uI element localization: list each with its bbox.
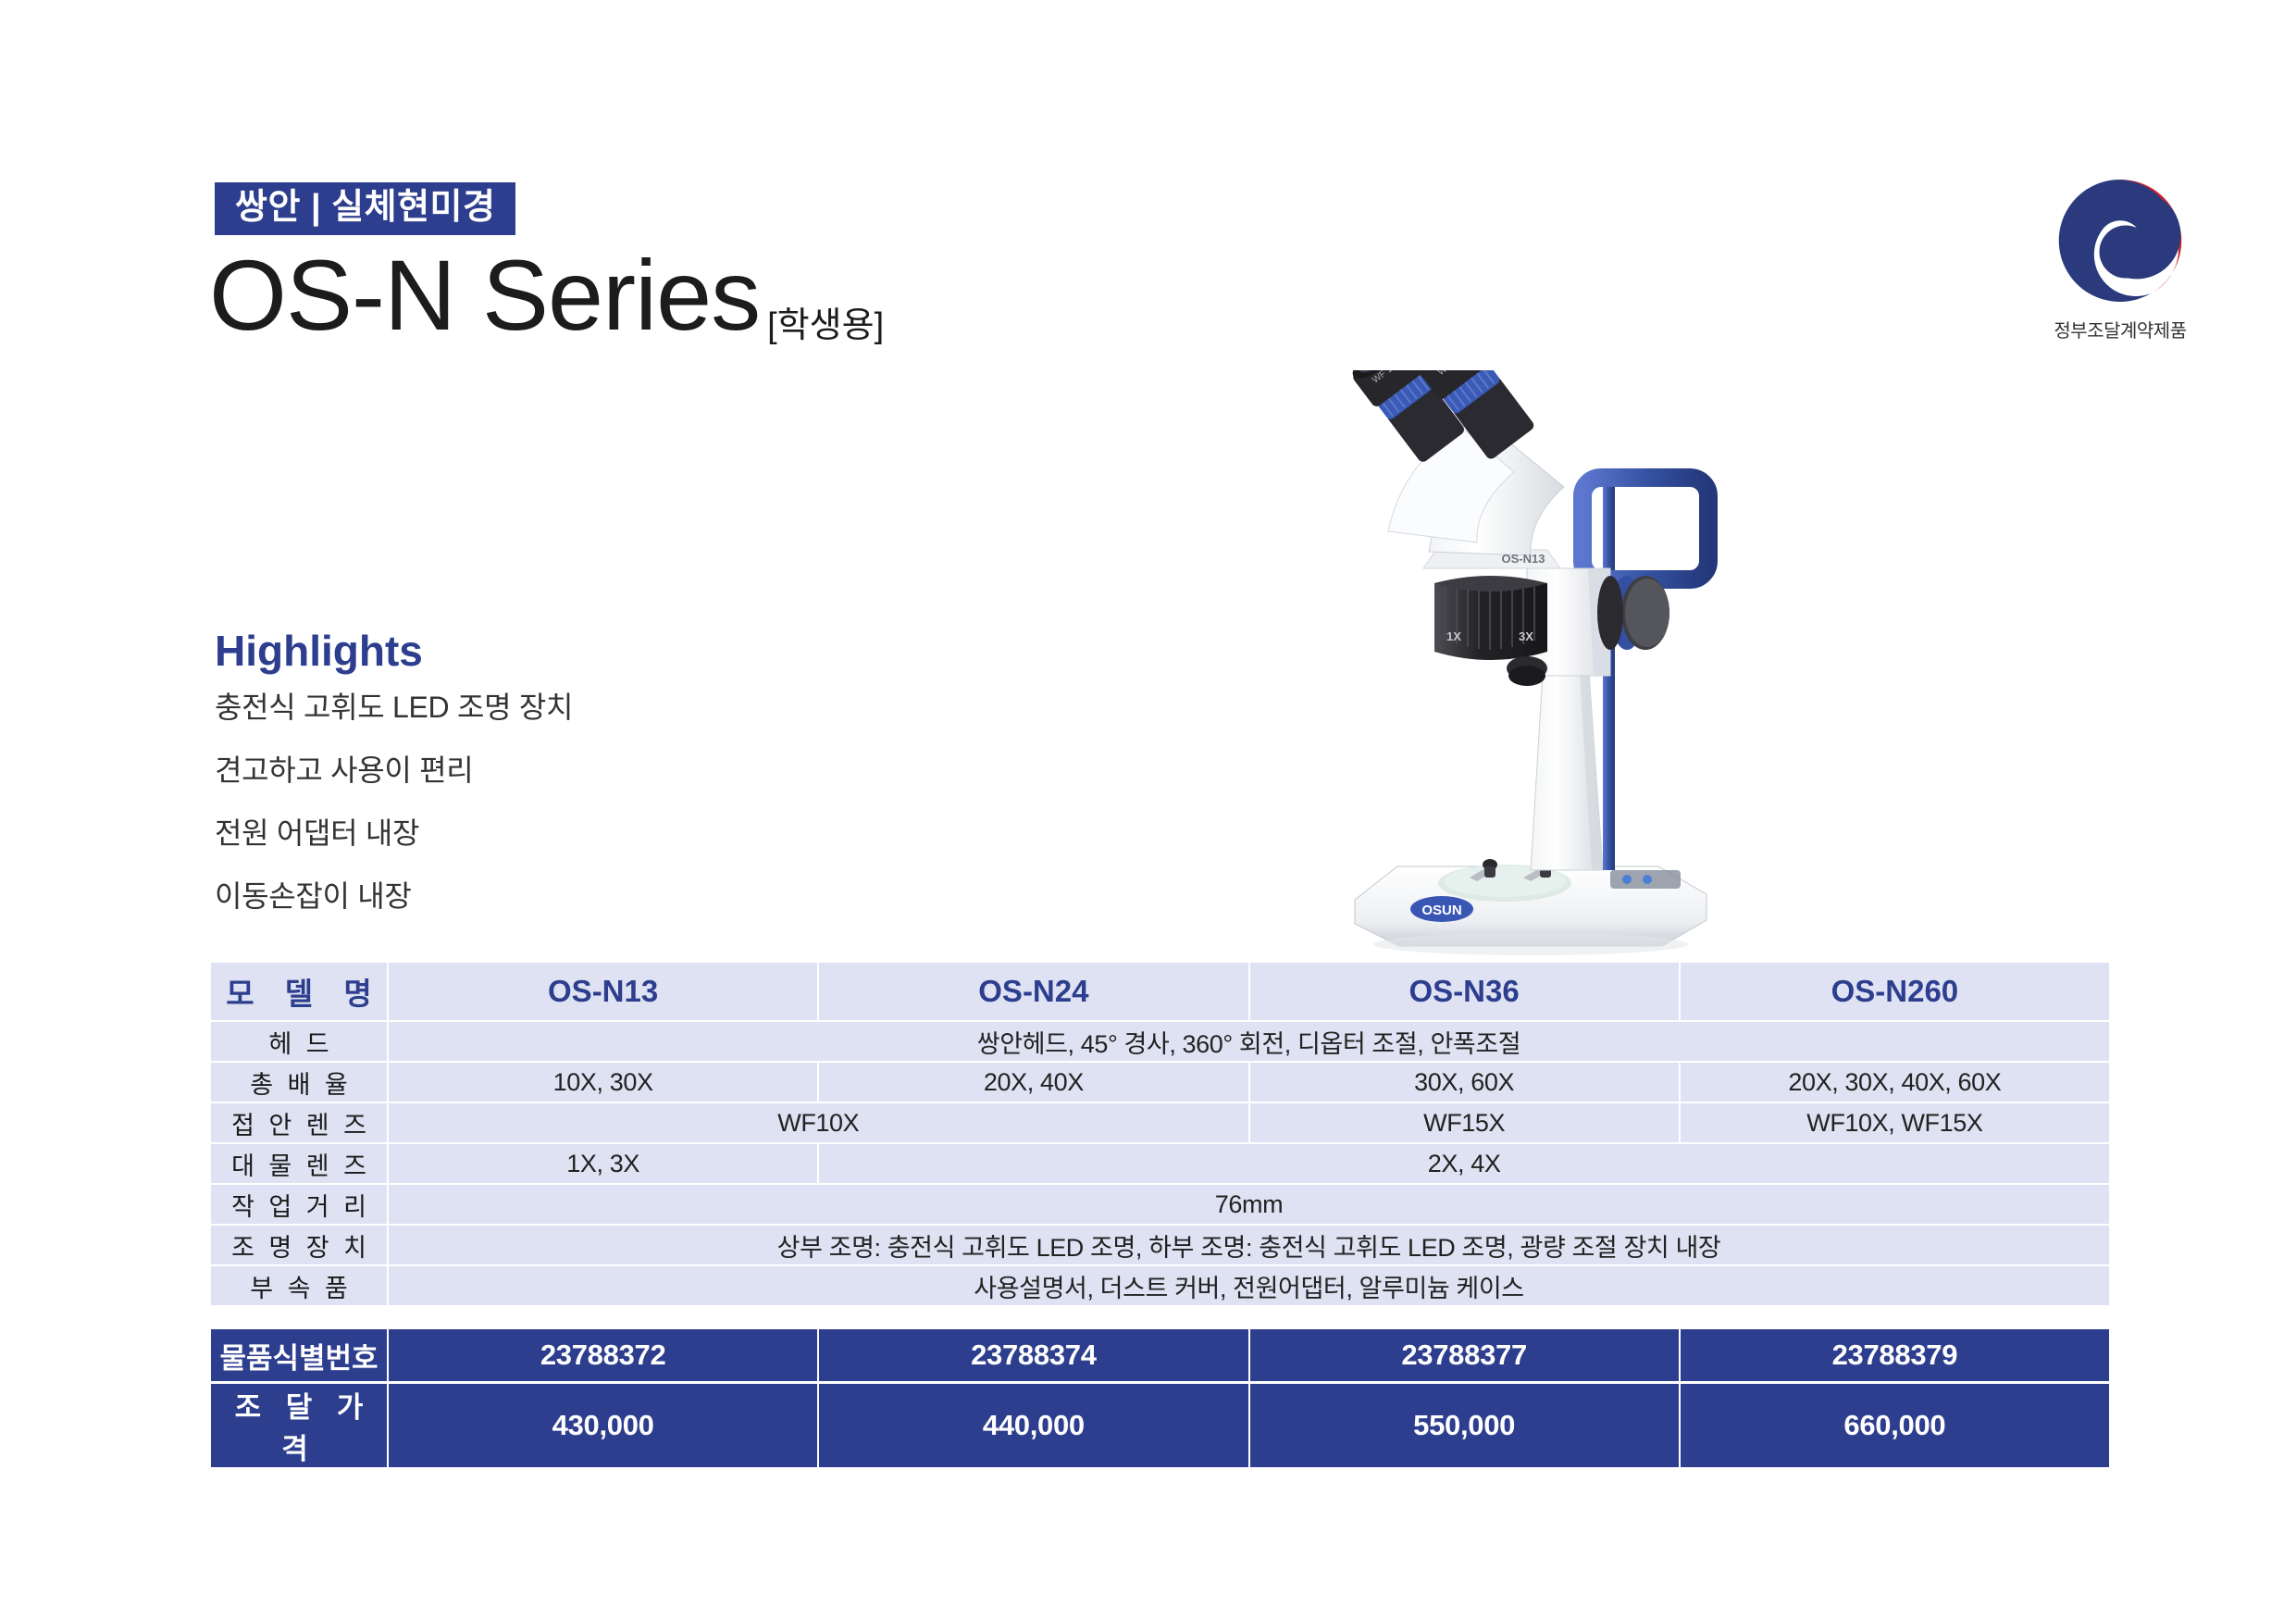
objective-mark-1x: 1X: [1446, 629, 1461, 643]
spec-row-value: WF10X, WF15X: [1681, 1103, 2109, 1142]
price-row-price: 조 달 가 격 430,000 440,000 550,000 660,000: [211, 1384, 2109, 1467]
spec-row-accessories: 부 속 품 사용설명서, 더스트 커버, 전원어댑터, 알루미늄 케이스: [211, 1266, 2109, 1305]
government-procurement-logo: 정부조달계약제품: [2000, 171, 2240, 342]
spec-row-illumination: 조 명 장 치 상부 조명: 충전식 고휘도 LED 조명, 하부 조명: 충전…: [211, 1226, 2109, 1264]
spec-row-value: 쌍안헤드, 45° 경사, 360° 회전, 디옵터 조절, 안폭조절: [389, 1022, 2109, 1061]
spec-row-value: 30X, 60X: [1250, 1063, 1679, 1102]
spec-row-value: 10X, 30X: [389, 1063, 817, 1102]
objective-mark-3x: 3X: [1519, 629, 1533, 643]
item-id-osn36: 23788377: [1250, 1329, 1679, 1381]
spec-row-eyepiece: 접 안 렌 즈 WF10X WF15X WF10X, WF15X: [211, 1103, 2109, 1142]
spec-row-label: 접 안 렌 즈: [211, 1103, 387, 1142]
spec-row-magnification: 총 배 율 10X, 30X 20X, 40X 30X, 60X 20X, 30…: [211, 1063, 2109, 1102]
korea-government-taegeuk-icon: [2000, 171, 2240, 310]
price-osn36: 550,000: [1250, 1384, 1679, 1467]
specification-table: 모 델 명 OS-N13 OS-N24 OS-N36 OS-N260 헤 드 쌍…: [209, 961, 2111, 1307]
price-row-label: 조 달 가 격: [211, 1384, 387, 1467]
spec-row-value: 사용설명서, 더스트 커버, 전원어댑터, 알루미늄 케이스: [389, 1266, 2109, 1305]
spec-row-label: 총 배 율: [211, 1063, 387, 1102]
stereo-microscope-photo: OSUN 1X 3X: [1333, 370, 1814, 972]
category-badge: 쌍안 | 실체현미경: [215, 182, 515, 235]
item-id-osn260: 23788379: [1681, 1329, 2109, 1381]
spec-row-label: 대 물 렌 즈: [211, 1144, 387, 1183]
microscope-brand-label: OSUN: [1421, 903, 1461, 918]
highlight-item: 견고하고 사용이 편리: [215, 755, 788, 785]
spec-row-working-distance: 작 업 거 리 76mm: [211, 1185, 2109, 1224]
spec-row-value: 2X, 4X: [819, 1144, 2109, 1183]
price-row-item-id: 물품식별번호 23788372 23788374 23788377 237883…: [211, 1329, 2109, 1381]
procurement-price-table: 물품식별번호 23788372 23788374 23788377 237883…: [209, 1326, 2111, 1470]
spec-row-value: WF15X: [1250, 1103, 1679, 1142]
page-title: OS-N Series [학생용]: [209, 245, 884, 345]
highlight-item: 충전식 고휘도 LED 조명 장치: [215, 692, 788, 722]
price-table-body: 물품식별번호 23788372 23788374 23788377 237883…: [211, 1329, 2109, 1467]
highlights-heading: Highlights: [215, 629, 788, 672]
highlight-item: 전원 어댑터 내장: [215, 818, 788, 848]
price-osn13: 430,000: [389, 1384, 817, 1467]
item-id-osn13: 23788372: [389, 1329, 817, 1381]
spec-row-value: 1X, 3X: [389, 1144, 817, 1183]
spec-row-objective: 대 물 렌 즈 1X, 3X 2X, 4X: [211, 1144, 2109, 1183]
spec-row-label: 헤 드: [211, 1022, 387, 1061]
spec-row-value: 76mm: [389, 1185, 2109, 1224]
page-title-suffix: [학생용]: [767, 296, 884, 347]
spec-model-osn24: OS-N24: [819, 963, 1247, 1020]
spec-model-osn36: OS-N36: [1250, 963, 1679, 1020]
item-id-osn24: 23788374: [819, 1329, 1247, 1381]
microscope-model-label: OS-N13: [1502, 552, 1545, 566]
spec-table-header-row: 모 델 명 OS-N13 OS-N24 OS-N36 OS-N260: [211, 963, 2109, 1020]
spec-row-value: WF10X: [389, 1103, 1248, 1142]
spec-row-head: 헤 드 쌍안헤드, 45° 경사, 360° 회전, 디옵터 조절, 안폭조절: [211, 1022, 2109, 1061]
price-osn260: 660,000: [1681, 1384, 2109, 1467]
highlights-section: Highlights 충전식 고휘도 LED 조명 장치 견고하고 사용이 편리…: [215, 629, 788, 944]
gov-logo-caption: 정부조달계약제품: [2000, 316, 2240, 342]
price-row-label: 물품식별번호: [211, 1329, 387, 1381]
spec-row-label: 조 명 장 치: [211, 1226, 387, 1264]
spec-row-value: 20X, 30X, 40X, 60X: [1681, 1063, 2109, 1102]
spec-header-label: 모 델 명: [211, 963, 387, 1020]
price-osn24: 440,000: [819, 1384, 1247, 1467]
highlight-item: 이동손잡이 내장: [215, 881, 788, 911]
spec-row-label: 작 업 거 리: [211, 1185, 387, 1224]
spec-row-value: 상부 조명: 충전식 고휘도 LED 조명, 하부 조명: 충전식 고휘도 LE…: [389, 1226, 2109, 1264]
spec-model-osn260: OS-N260: [1681, 963, 2109, 1020]
page-title-main: OS-N Series: [209, 245, 760, 345]
spec-row-label: 부 속 품: [211, 1266, 387, 1305]
spec-row-value: 20X, 40X: [819, 1063, 1247, 1102]
spec-table-body: 모 델 명 OS-N13 OS-N24 OS-N36 OS-N260 헤 드 쌍…: [211, 963, 2109, 1305]
spec-model-osn13: OS-N13: [389, 963, 817, 1020]
